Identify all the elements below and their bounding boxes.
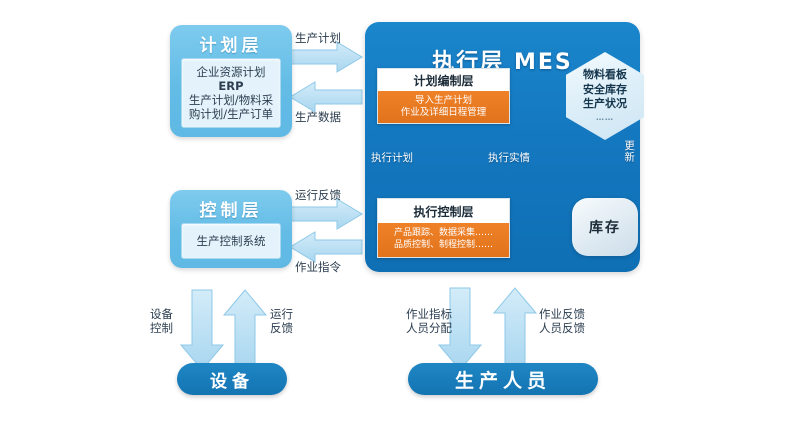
hexagon-line-2: 安全库存: [583, 83, 627, 97]
hexagon-ellipsis: ……: [596, 113, 614, 123]
arrow-equipment-feedback-up: [224, 290, 266, 370]
label-equipment-control-line-1: 设备: [150, 307, 173, 321]
equipment-node[interactable]: 设备: [177, 363, 287, 395]
planning-module-body: 导入生产计划 作业及详细日程管理: [378, 91, 509, 123]
planning-layer-box: 企业资源计划 ERP 生产计划/物料采 购计划/生产订单: [181, 58, 281, 128]
label-personnel-feedback: 作业反馈 人员反馈: [539, 307, 585, 336]
label-exec-plan: 执行计划: [371, 152, 413, 165]
erp-line-4: 购计划/生产订单: [189, 107, 273, 121]
control-layer-title: 控制层: [170, 196, 292, 221]
stock-block[interactable]: 库存: [572, 198, 638, 256]
arrow-mes-to-control: [290, 232, 362, 262]
label-personnel-task-line-2: 人员分配: [406, 321, 452, 335]
execution-module-title: 执行控制层: [378, 199, 509, 223]
label-mes-to-control: 作业指令: [295, 260, 341, 274]
execution-module-body-line-1: 产品跟踪、数据采集……: [394, 228, 493, 240]
label-equipment-feedback: 运行 反馈: [270, 307, 293, 336]
control-layer-box: 生产控制系统: [181, 223, 281, 259]
arrow-equipment-control-down: [181, 290, 223, 370]
arrow-control-to-mes: [290, 199, 362, 229]
arrow-plan-to-mes: [290, 42, 362, 72]
label-plan-to-mes: 生产计划: [295, 31, 341, 45]
hexagon-line-1: 物料看板: [583, 68, 627, 82]
erp-line-3: 生产计划/物料采: [189, 93, 273, 107]
planning-module-body-line-1: 导入生产计划: [415, 95, 472, 107]
stock-label: 库存: [589, 217, 621, 237]
control-layer-card[interactable]: 控制层 生产控制系统: [170, 190, 292, 268]
execution-module[interactable]: 执行控制层 产品跟踪、数据采集…… 品质控制、制程控制……: [377, 198, 510, 258]
personnel-label: 生产人员: [455, 366, 551, 393]
label-personnel-task: 作业指标 人员分配: [406, 307, 452, 336]
erp-line-2: ERP: [189, 79, 273, 93]
label-control-to-mes: 运行反馈: [295, 188, 341, 202]
label-personnel-task-line-1: 作业指标: [406, 307, 452, 321]
execution-module-body-line-2: 品质控制、制程控制……: [394, 240, 493, 252]
planning-layer-card[interactable]: 计划层 企业资源计划 ERP 生产计划/物料采 购计划/生产订单: [170, 25, 292, 137]
kanban-hexagon[interactable]: 物料看板 安全库存 生产状况 ……: [566, 52, 644, 140]
hexagon-line-3: 生产状况: [583, 97, 627, 111]
arrow-mes-to-plan: [290, 82, 362, 112]
erp-line-1: 企业资源计划: [189, 65, 273, 79]
diagram-canvas: 计划层 企业资源计划 ERP 生产计划/物料采 购计划/生产订单 控制层 生产控…: [0, 0, 800, 422]
label-personnel-feedback-line-2: 人员反馈: [539, 321, 585, 335]
label-exec-status: 执行实情: [488, 152, 530, 165]
personnel-node[interactable]: 生产人员: [408, 363, 598, 395]
label-equipment-feedback-line-1: 运行: [270, 307, 293, 321]
label-equipment-control: 设备 控制: [150, 307, 173, 336]
planning-module-body-line-2: 作业及详细日程管理: [401, 107, 487, 119]
planning-layer-title: 计划层: [170, 31, 292, 56]
label-equipment-control-line-2: 控制: [150, 321, 173, 335]
label-mes-to-plan: 生产数据: [295, 110, 341, 124]
execution-module-body: 产品跟踪、数据采集…… 品质控制、制程控制……: [378, 223, 509, 257]
label-equipment-feedback-line-2: 反馈: [270, 321, 293, 335]
label-update: 更新: [622, 140, 635, 163]
control-system-label: 生产控制系统: [197, 234, 266, 248]
label-personnel-feedback-line-1: 作业反馈: [539, 307, 585, 321]
planning-module-title: 计划编制层: [378, 69, 509, 91]
planning-module[interactable]: 计划编制层 导入生产计划 作业及详细日程管理: [377, 68, 510, 124]
equipment-label: 设备: [210, 367, 254, 392]
arrow-personnel-feedback-up: [494, 288, 536, 370]
